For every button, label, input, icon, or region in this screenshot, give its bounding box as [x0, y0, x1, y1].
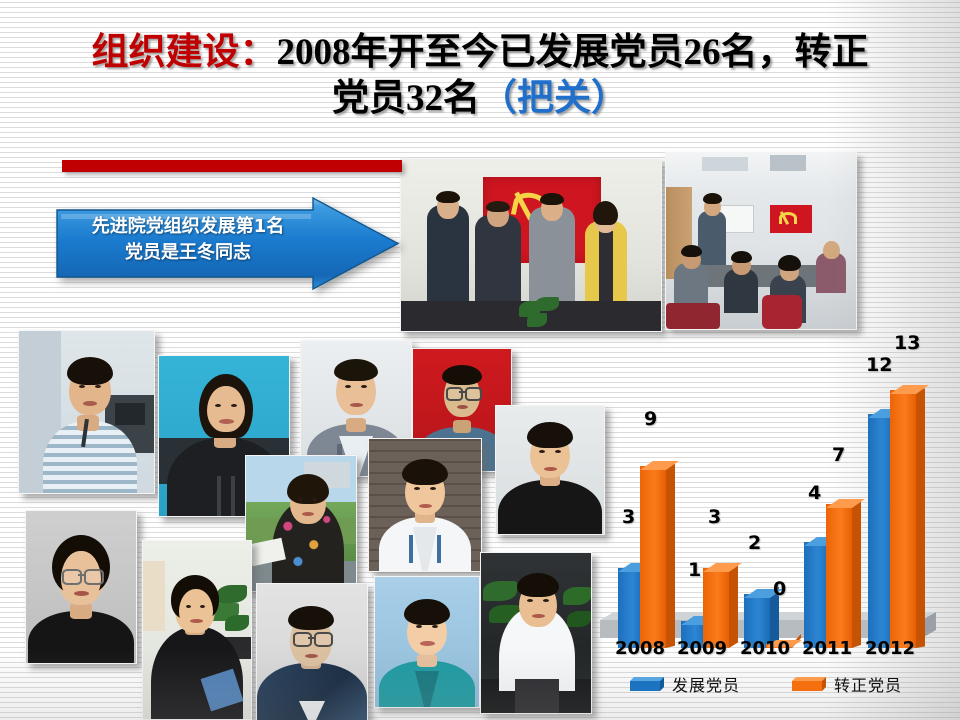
bar-2009-zhuanzheng — [703, 568, 729, 648]
legend-item-zhuanzheng: 转正党员 — [792, 672, 902, 696]
x-tick-2011: 2011 — [797, 638, 857, 659]
x-tick-2012: 2012 — [860, 638, 920, 659]
bar-label-2009-zhuanzheng: 3 — [708, 506, 721, 528]
legend-item-fazhan: 发展党员 — [630, 672, 740, 696]
bar-label-2010-fazhan: 2 — [748, 532, 761, 554]
bar-label-2011-zhuanzheng: 7 — [832, 444, 845, 466]
portrait-woman-glasses-grey — [25, 510, 137, 664]
bar-2011-zhuanzheng — [826, 504, 852, 648]
title-line-2: 党员32名（把关） — [0, 76, 960, 122]
bar-label-2008-fazhan: 3 — [622, 506, 635, 528]
title-line-1-text: 2008年开至今已发展党员26名，转正 — [277, 32, 869, 73]
portrait-man-white-shirt-plant — [480, 552, 592, 714]
slide-canvas: 组织建设：2008年开至今已发展党员26名，转正 党员32名（把关） 先进院党组 — [0, 0, 960, 720]
portrait-woman-outdoor-floral — [245, 455, 357, 592]
title-line-2-text: 党员32名 — [332, 78, 480, 119]
bar-chart: 3 9 1 3 — [596, 376, 956, 720]
chart-legend: 发展党员 转正党员 — [606, 672, 956, 706]
portrait-man-brick-wall — [368, 438, 482, 572]
portrait-woman-short-hair-office — [142, 540, 252, 720]
x-tick-2009: 2009 — [672, 638, 732, 659]
page-title: 组织建设：2008年开至今已发展党员26名，转正 党员32名（把关） — [0, 30, 960, 122]
legend-swatch-blue-icon — [630, 677, 664, 691]
portrait-man-striped-shirt — [18, 330, 155, 494]
bar-label-2009-fazhan: 1 — [688, 559, 701, 581]
bar-label-2011-fazhan: 4 — [808, 482, 821, 504]
x-tick-2008: 2008 — [610, 638, 670, 659]
x-tick-2010: 2010 — [735, 638, 795, 659]
bar-2012-zhuanzheng — [890, 390, 916, 648]
portrait-woman-teal-shirt — [374, 576, 480, 708]
red-divider-bar — [62, 160, 402, 172]
arrow-shape-icon — [55, 196, 400, 291]
legend-label-zhuanzheng: 转正党员 — [834, 672, 902, 696]
bar-label-2008-zhuanzheng: 9 — [644, 408, 657, 430]
bar-label-2012-fazhan: 12 — [866, 354, 892, 376]
meeting-room-photo — [665, 152, 857, 330]
portrait-man-glasses-blue-jacket — [256, 583, 368, 720]
legend-swatch-orange-icon — [792, 677, 826, 691]
chart-plot-area: 3 9 1 3 — [596, 376, 956, 648]
bar-2008-zhuanzheng — [640, 466, 666, 648]
group-photo-party-flag — [400, 158, 662, 332]
arrow-callout: 先进院党组织发展第1名 党员是王冬同志 — [55, 196, 400, 291]
bar-label-2012-zhuanzheng: 13 — [894, 332, 920, 354]
title-note-text: （把关） — [480, 78, 628, 119]
portrait-man-black-shirt — [495, 405, 605, 535]
bar-label-2010-zhuanzheng: 0 — [773, 578, 786, 600]
title-line-1: 组织建设：2008年开至今已发展党员26名，转正 — [0, 30, 960, 76]
title-topic-label: 组织建设： — [92, 32, 277, 73]
legend-label-fazhan: 发展党员 — [672, 672, 740, 696]
